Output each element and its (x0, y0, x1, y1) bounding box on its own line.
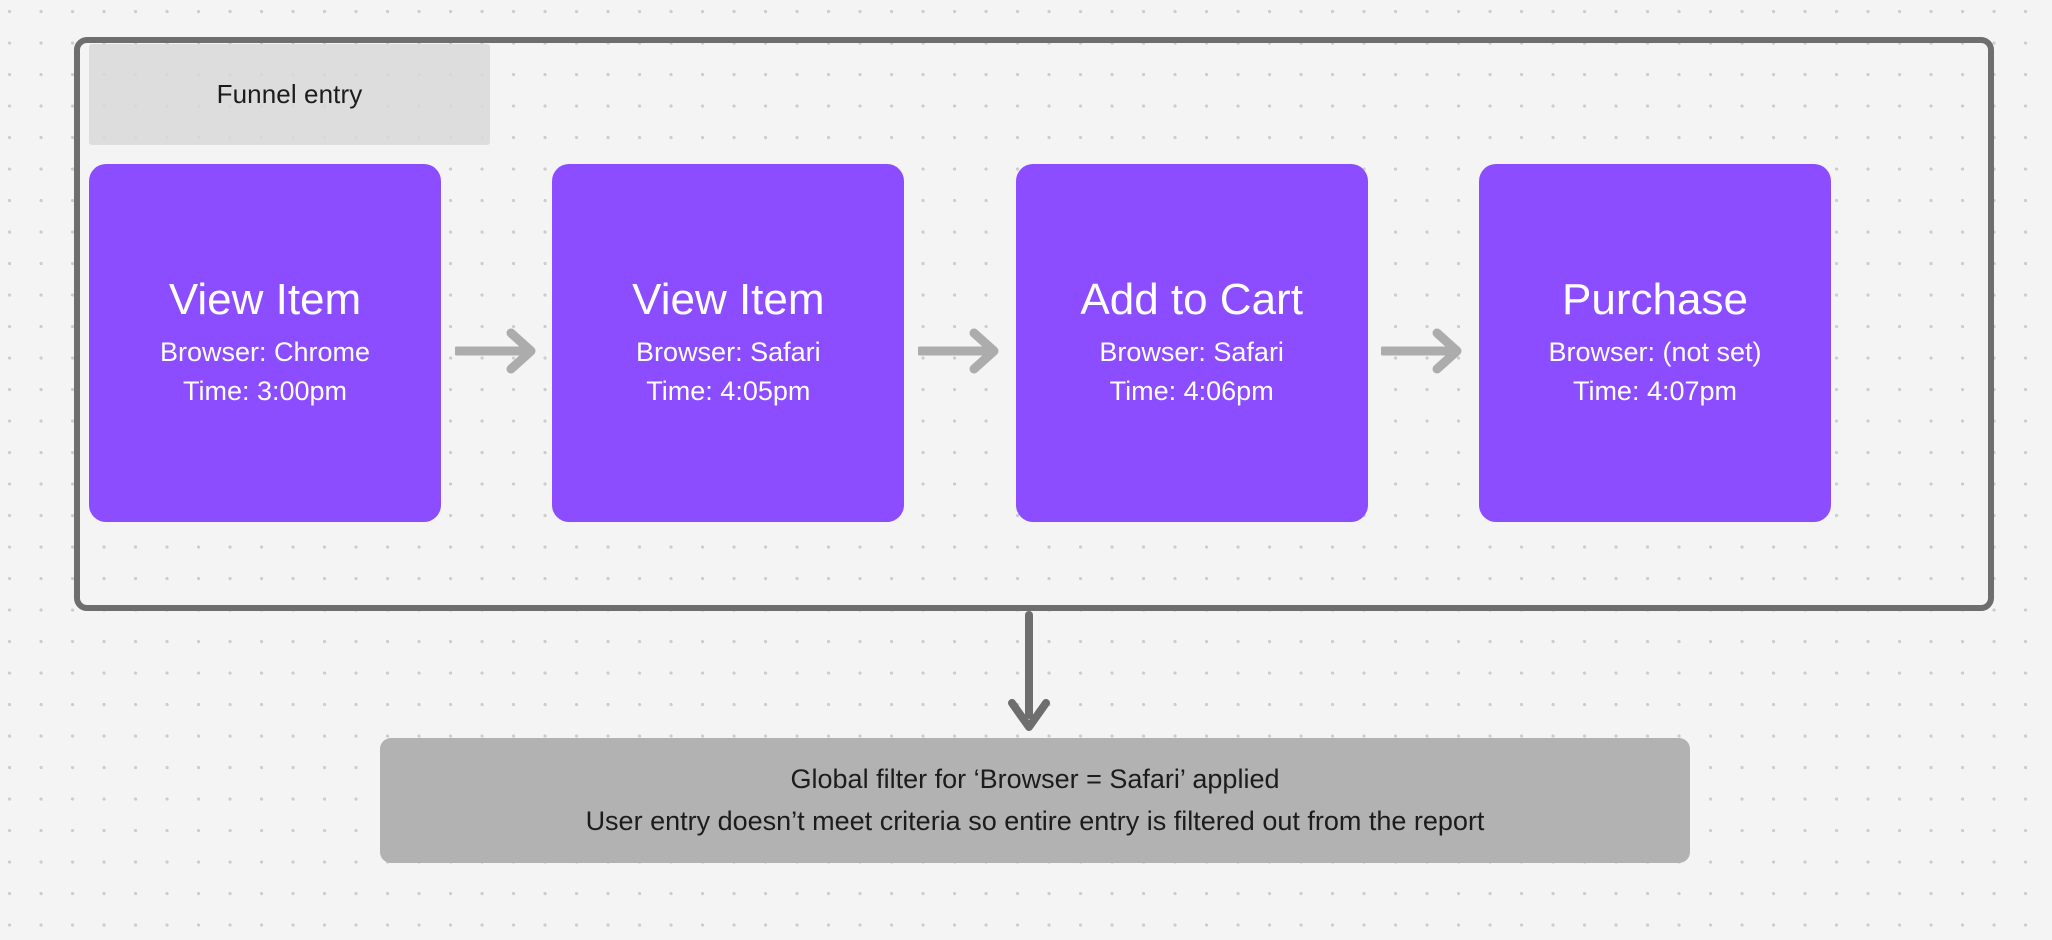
arrow-right-icon (1368, 156, 1479, 530)
step-title: View Item (632, 276, 824, 324)
step-title: View Item (169, 276, 361, 324)
funnel-step-card[interactable]: Add to Cart Browser: Safari Time: 4:06pm (1016, 164, 1368, 522)
step-browser: Browser: (not set) (1548, 333, 1761, 371)
filter-banner: Global filter for ‘Browser = Safari’ app… (380, 738, 1690, 863)
step-time: Time: 3:00pm (183, 372, 347, 410)
step-time: Time: 4:05pm (646, 372, 810, 410)
filter-banner-line-1: Global filter for ‘Browser = Safari’ app… (791, 759, 1280, 801)
funnel-step-card[interactable]: View Item Browser: Chrome Time: 3:00pm (89, 164, 441, 522)
arrow-right-icon (904, 156, 1015, 530)
arrow-down-icon (1006, 611, 1052, 733)
step-time: Time: 4:06pm (1110, 372, 1274, 410)
funnel-entry-label: Funnel entry (217, 79, 363, 110)
funnel-entry-chip: Funnel entry (89, 44, 490, 145)
step-time: Time: 4:07pm (1573, 372, 1737, 410)
step-title: Purchase (1562, 276, 1748, 324)
step-browser: Browser: Chrome (160, 333, 370, 371)
step-browser: Browser: Safari (1099, 333, 1284, 371)
funnel-step-card[interactable]: Purchase Browser: (not set) Time: 4:07pm (1479, 164, 1831, 522)
step-title: Add to Cart (1080, 276, 1303, 324)
filter-banner-line-2: User entry doesn’t meet criteria so enti… (586, 801, 1485, 843)
arrow-right-icon (441, 156, 552, 530)
step-browser: Browser: Safari (636, 333, 821, 371)
funnel-steps-row: View Item Browser: Chrome Time: 3:00pm V… (89, 164, 1831, 522)
funnel-step-card[interactable]: View Item Browser: Safari Time: 4:05pm (552, 164, 904, 522)
